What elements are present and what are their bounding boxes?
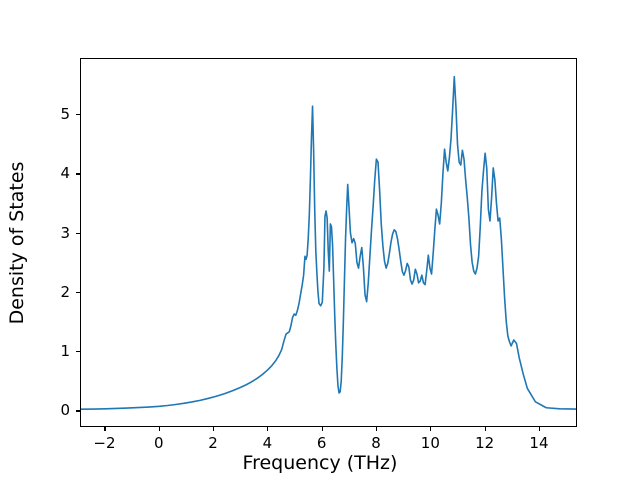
x-tick-label: 8 — [371, 434, 381, 452]
y-tick-label: 4 — [36, 164, 70, 182]
x-tick-label: 12 — [475, 434, 494, 452]
x-tick-label: 2 — [208, 434, 218, 452]
x-tick-label: 0 — [154, 434, 164, 452]
x-tick-mark — [104, 427, 105, 431]
x-tick-label: 6 — [317, 434, 327, 452]
matplotlib-figure: Density of States 012345 −202468101214 F… — [0, 0, 640, 480]
x-tick-mark — [267, 427, 268, 431]
y-tick-label: 1 — [36, 342, 70, 360]
x-tick-mark — [159, 427, 160, 431]
y-axis-label-container: Density of States — [0, 0, 34, 480]
y-tick-label: 5 — [36, 105, 70, 123]
y-tick-label: 0 — [36, 401, 70, 419]
x-tick-mark — [213, 427, 214, 431]
x-tick-label: 14 — [529, 434, 548, 452]
dos-line-chart — [81, 59, 576, 426]
x-tick-mark — [539, 427, 540, 431]
x-tick-mark — [322, 427, 323, 431]
plot-area — [80, 58, 577, 427]
y-tick-label: 3 — [36, 224, 70, 242]
x-tick-mark — [485, 427, 486, 431]
y-axis-label: Density of States — [6, 162, 28, 325]
dos-curve — [81, 77, 576, 410]
x-tick-label: −2 — [93, 434, 115, 452]
x-tick-label: 4 — [263, 434, 273, 452]
x-tick-label: 10 — [421, 434, 440, 452]
x-tick-mark — [376, 427, 377, 431]
x-tick-mark — [430, 427, 431, 431]
y-tick-label: 2 — [36, 283, 70, 301]
x-axis-label: Frequency (THz) — [0, 452, 640, 474]
